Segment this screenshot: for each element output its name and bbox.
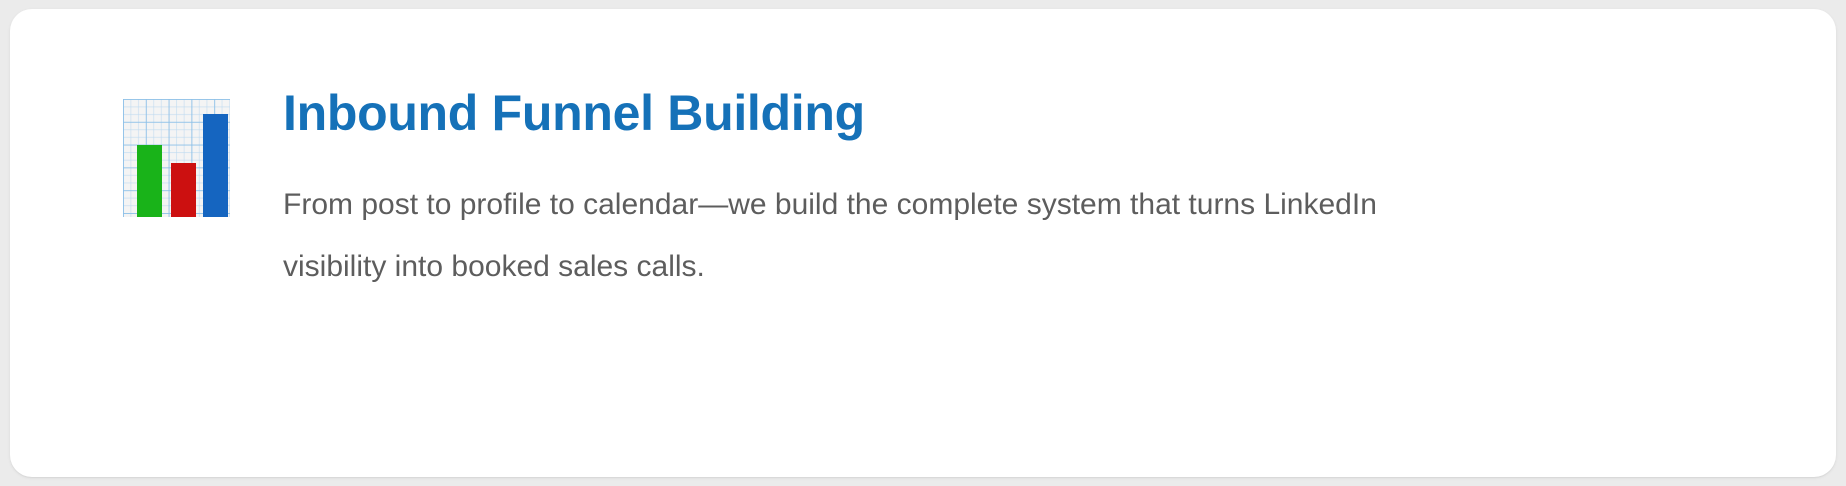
card-description: From post to profile to calendar—we buil… (283, 174, 1393, 298)
bar-chart-emoji-graphic (123, 99, 230, 217)
card-content: Inbound Funnel Building From post to pro… (123, 87, 1776, 298)
bar-chart-icon (123, 87, 230, 215)
feature-card: Inbound Funnel Building From post to pro… (10, 9, 1836, 477)
text-column: Inbound Funnel Building From post to pro… (283, 87, 1776, 298)
card-title: Inbound Funnel Building (283, 87, 1776, 140)
